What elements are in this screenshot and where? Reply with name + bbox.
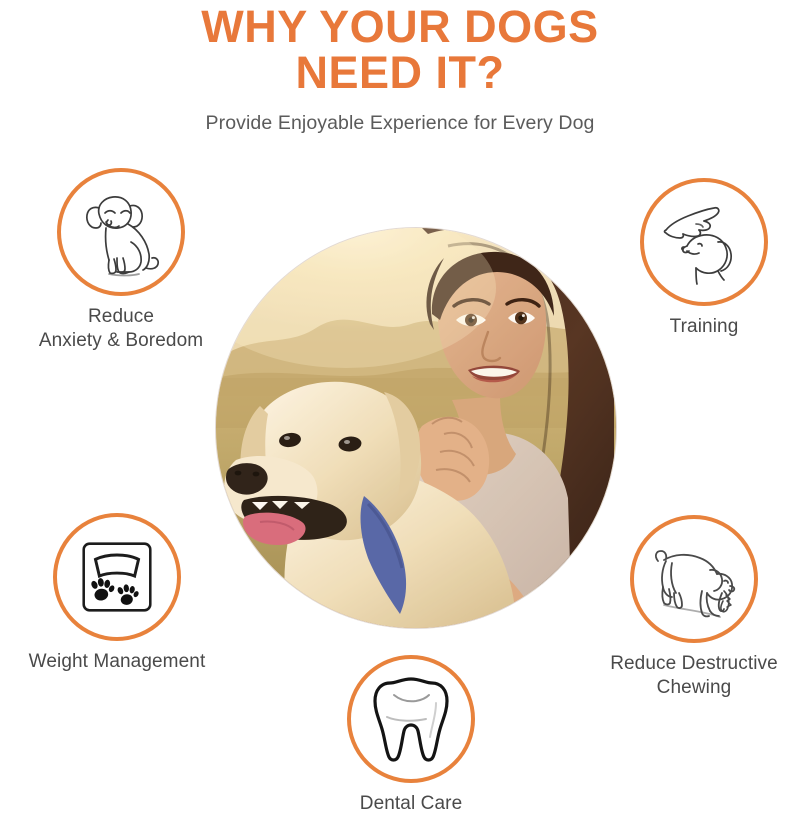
feature-icon-circle [640, 178, 768, 306]
page-subtitle: Provide Enjoyable Experience for Every D… [0, 96, 800, 135]
feature-label-line-2: Anxiety & Boredom [1, 329, 241, 353]
infographic-canvas: WHY YOUR DOGS NEED IT? Provide Enjoyable… [0, 0, 800, 800]
feature-label: Reduce Anxiety & Boredom [1, 305, 241, 352]
feature-training[interactable]: Training [584, 178, 800, 339]
feature-reduce-anxiety[interactable]: Reduce Anxiety & Boredom [1, 168, 241, 352]
dog-tugging-chewing-icon [644, 529, 744, 629]
title-line-1: WHY YOUR DOGS [0, 4, 800, 50]
feature-label-line-1: Reduce Destructive [574, 652, 800, 676]
feature-label-line-1: Dental Care [291, 792, 531, 816]
hand-signal-dog-head-icon [656, 194, 752, 290]
feature-label-line-1: Weight Management [0, 650, 237, 674]
feature-label-line-1: Reduce [1, 305, 241, 329]
feature-label-line-1: Training [584, 315, 800, 339]
feature-icon-circle [347, 655, 475, 783]
feature-icon-circle [53, 513, 181, 641]
feature-weight-management[interactable]: Weight Management [0, 513, 237, 674]
feature-icon-circle [57, 168, 185, 296]
hero-photo [216, 228, 616, 628]
hero-photo-image [216, 228, 616, 628]
title-line-2: NEED IT? [0, 50, 800, 96]
feature-icon-circle [630, 515, 758, 643]
feature-label: Dental Care [291, 792, 531, 816]
feature-label: Reduce Destructive Chewing [574, 652, 800, 699]
feature-label: Weight Management [0, 650, 237, 674]
page-title: WHY YOUR DOGS NEED IT? [0, 0, 800, 96]
feature-label-line-2: Chewing [574, 676, 800, 700]
feature-reduce-destructive-chewing[interactable]: Reduce Destructive Chewing [574, 515, 800, 699]
bathroom-scale-paw-prints-icon [70, 530, 164, 624]
molar-tooth-icon [368, 673, 454, 765]
sad-sitting-dog-icon [73, 184, 169, 280]
feature-label: Training [584, 315, 800, 339]
header: WHY YOUR DOGS NEED IT? Provide Enjoyable… [0, 0, 800, 135]
feature-dental-care[interactable]: Dental Care [291, 655, 531, 816]
